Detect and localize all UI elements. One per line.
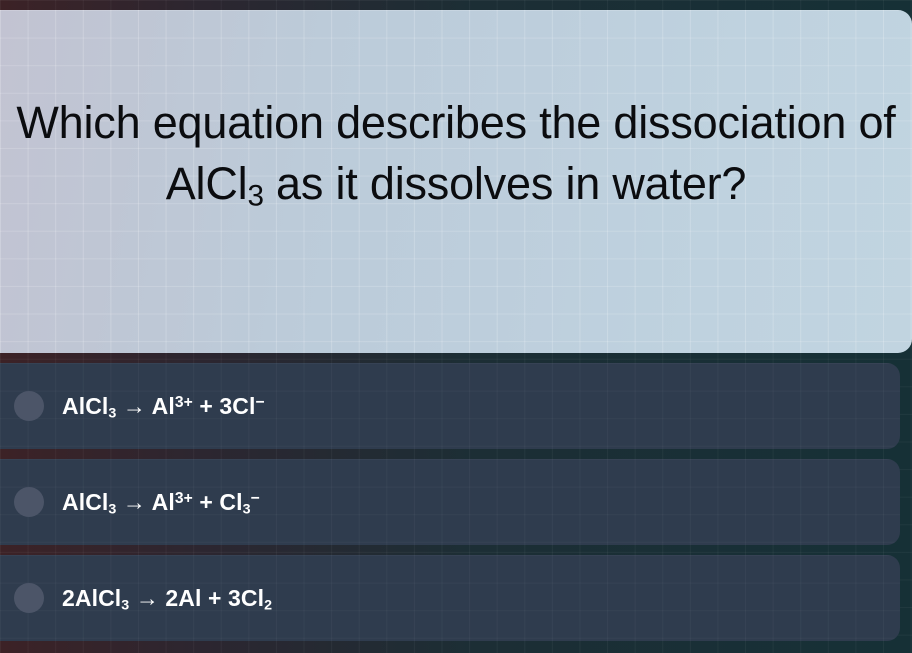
radio-button-icon[interactable] bbox=[14, 391, 44, 421]
answer-option-3[interactable]: 2AlCl3 → 2Al + 3Cl2 bbox=[0, 555, 900, 641]
answer-option-2-label: AlCl3 → Al3+ + Cl3− bbox=[62, 489, 260, 516]
quiz-screen: Which equation describes the dissociatio… bbox=[0, 0, 912, 653]
answer-option-1-label: AlCl3 → Al3+ + 3Cl− bbox=[62, 393, 265, 420]
question-text: Which equation describes the dissociatio… bbox=[0, 10, 912, 214]
answer-options-list: AlCl3 → Al3+ + 3Cl− AlCl3 → Al3+ + Cl3− … bbox=[0, 363, 912, 641]
answer-option-3-label: 2AlCl3 → 2Al + 3Cl2 bbox=[62, 585, 272, 612]
question-card: Which equation describes the dissociatio… bbox=[0, 10, 912, 353]
radio-button-icon[interactable] bbox=[14, 487, 44, 517]
answer-option-1[interactable]: AlCl3 → Al3+ + 3Cl− bbox=[0, 363, 900, 449]
answer-option-2[interactable]: AlCl3 → Al3+ + Cl3− bbox=[0, 459, 900, 545]
radio-button-icon[interactable] bbox=[14, 583, 44, 613]
